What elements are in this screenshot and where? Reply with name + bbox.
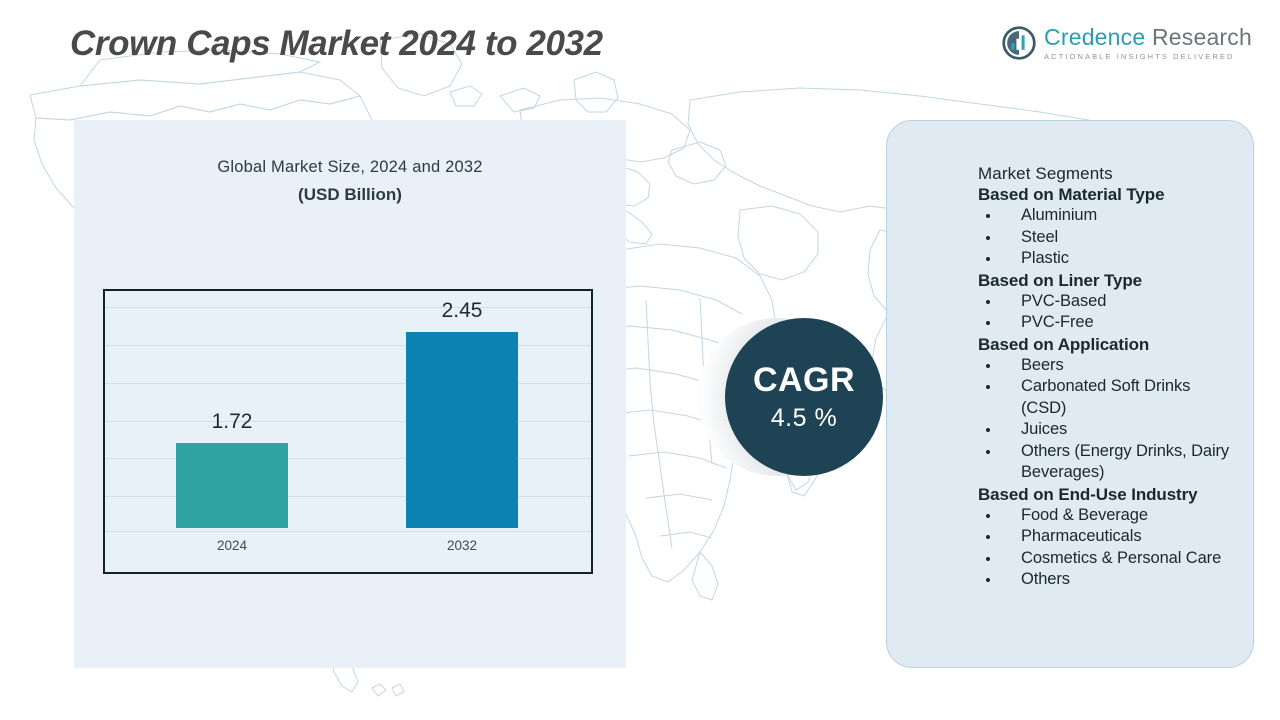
- segment-group-title-material-type: Based on Material Type: [978, 185, 1240, 205]
- list-item: Others: [978, 569, 1240, 591]
- chart-heading: Global Market Size, 2024 and 2032 (USD B…: [74, 158, 626, 205]
- list-item: Food & Beverage: [978, 505, 1240, 527]
- list-item: Others (Energy Drinks, Dairy Beverages): [978, 441, 1240, 484]
- bullet-icon: [986, 257, 990, 261]
- bullet-icon: [986, 364, 990, 368]
- bullet-icon: [986, 300, 990, 304]
- list-item-label: Carbonated Soft Drinks (CSD): [1021, 377, 1190, 417]
- segment-group-title-end-use-industry: Based on End-Use Industry: [978, 485, 1240, 505]
- list-item-label: PVC-Based: [1021, 292, 1106, 310]
- bullet-icon: [986, 321, 990, 325]
- list-item: Carbonated Soft Drinks (CSD): [978, 376, 1240, 419]
- bullet-icon: [986, 557, 990, 561]
- bar-chart: 1.72 2024 2.45 2032: [103, 289, 593, 574]
- bullet-icon: [986, 385, 990, 389]
- bar-fill-2024: [176, 443, 288, 528]
- chart-heading-line2: (USD Billion): [74, 185, 626, 205]
- list-item-label: PVC-Free: [1021, 313, 1094, 331]
- bullet-icon: [986, 535, 990, 539]
- segments-title: Market Segments: [978, 164, 1240, 184]
- list-item: Beers: [978, 355, 1240, 377]
- bullet-icon: [986, 236, 990, 240]
- segment-group-title-liner-type: Based on Liner Type: [978, 271, 1240, 291]
- list-item: Cosmetics & Personal Care: [978, 548, 1240, 570]
- bullet-icon: [986, 514, 990, 518]
- list-item: Steel: [978, 227, 1240, 249]
- cagr-label: CAGR: [753, 361, 855, 400]
- list-item-label: Beers: [1021, 356, 1064, 374]
- list-item: PVC-Based: [978, 291, 1240, 313]
- bullet-icon: [986, 428, 990, 432]
- list-item-label: Aluminium: [1021, 206, 1097, 224]
- logo-word-research: Research: [1152, 24, 1252, 50]
- list-item-label: Plastic: [1021, 249, 1069, 267]
- list-item-label: Others: [1021, 570, 1070, 588]
- bullet-icon: [986, 214, 990, 218]
- segment-group-title-application: Based on Application: [978, 335, 1240, 355]
- bullet-icon: [986, 450, 990, 454]
- bullet-icon: [986, 578, 990, 582]
- list-item: Juices: [978, 419, 1240, 441]
- list-item: PVC-Free: [978, 312, 1240, 334]
- bar-label-2032: 2032: [447, 538, 477, 553]
- list-item: Aluminium: [978, 205, 1240, 227]
- bar-label-2024: 2024: [217, 538, 247, 553]
- bar-value-2024: 1.72: [212, 410, 253, 434]
- bar-chart-circle-icon: [1002, 26, 1036, 60]
- cagr-circle: CAGR 4.5 %: [725, 318, 883, 476]
- list-item-label: Steel: [1021, 228, 1058, 246]
- bar-2024[interactable]: 1.72 2024: [176, 443, 288, 528]
- list-item-label: Pharmaceuticals: [1021, 527, 1141, 545]
- chart-heading-line1: Global Market Size, 2024 and 2032: [74, 158, 626, 177]
- bar-2032[interactable]: 2.45 2032: [406, 332, 518, 528]
- list-item-label: Others (Energy Drinks, Dairy Beverages): [1021, 442, 1229, 482]
- market-segments-list: Market Segments Based on Material Type A…: [978, 164, 1240, 591]
- page-title: Crown Caps Market 2024 to 2032: [70, 24, 603, 64]
- list-item-label: Food & Beverage: [1021, 506, 1148, 524]
- chart-plot-area: 1.72 2024 2.45 2032: [105, 291, 591, 572]
- list-item: Pharmaceuticals: [978, 526, 1240, 548]
- cagr-value: 4.5 %: [771, 404, 837, 433]
- infographic-canvas: Crown Caps Market 2024 to 2032 Credence …: [0, 0, 1280, 720]
- list-item-label: Cosmetics & Personal Care: [1021, 549, 1221, 567]
- bar-value-2032: 2.45: [442, 299, 483, 323]
- list-item: Plastic: [978, 248, 1240, 270]
- cagr-badge: CAGR 4.5 %: [697, 318, 917, 478]
- bar-fill-2032: [406, 332, 518, 528]
- logo-word-credence: Credence: [1044, 24, 1145, 50]
- list-item-label: Juices: [1021, 420, 1067, 438]
- logo-tagline: Actionable Insights Delivered: [1044, 53, 1252, 61]
- brand-logo: Credence Research Actionable Insights De…: [1002, 26, 1252, 61]
